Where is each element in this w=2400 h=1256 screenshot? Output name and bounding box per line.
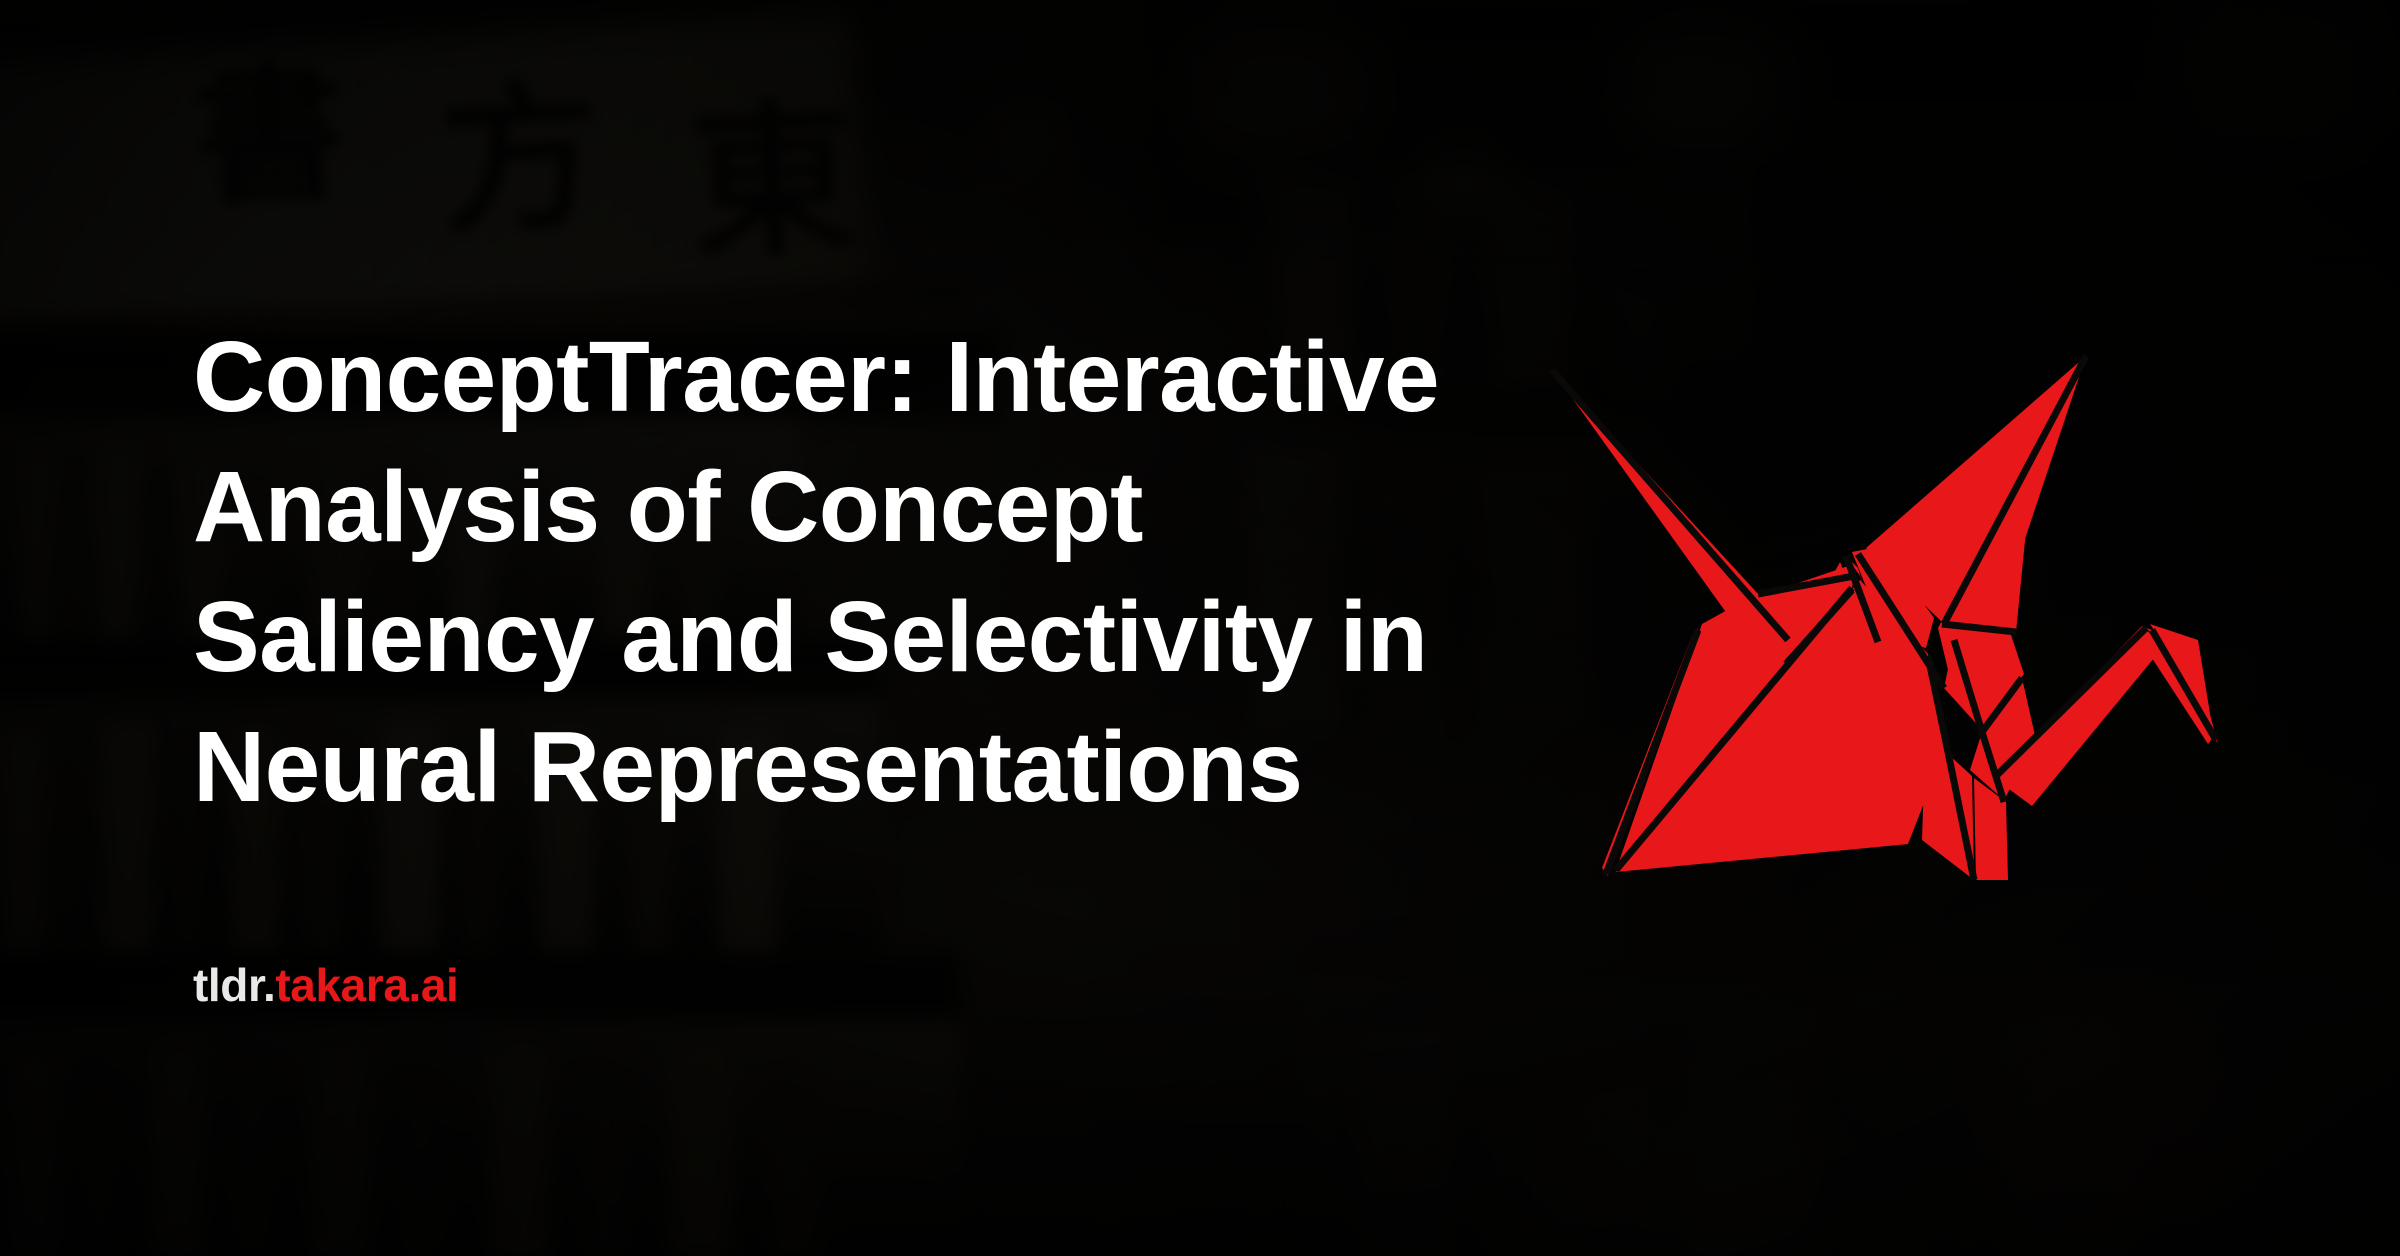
brand-prefix: tldr. bbox=[193, 959, 275, 1011]
origami-crane-icon bbox=[1530, 340, 2230, 900]
crane-shape-group bbox=[1552, 356, 2218, 880]
social-preview-card: 書 方 東 bbox=[0, 0, 2400, 1256]
brand-wordmark: tldr.takara.ai bbox=[193, 962, 458, 1008]
brand-domain: takara.ai bbox=[275, 959, 458, 1011]
fold-rear-wing bbox=[1552, 370, 1788, 640]
card-content: ConceptTracer: Interactive Analysis of C… bbox=[0, 0, 2400, 1256]
page-title: ConceptTracer: Interactive Analysis of C… bbox=[193, 312, 1483, 832]
